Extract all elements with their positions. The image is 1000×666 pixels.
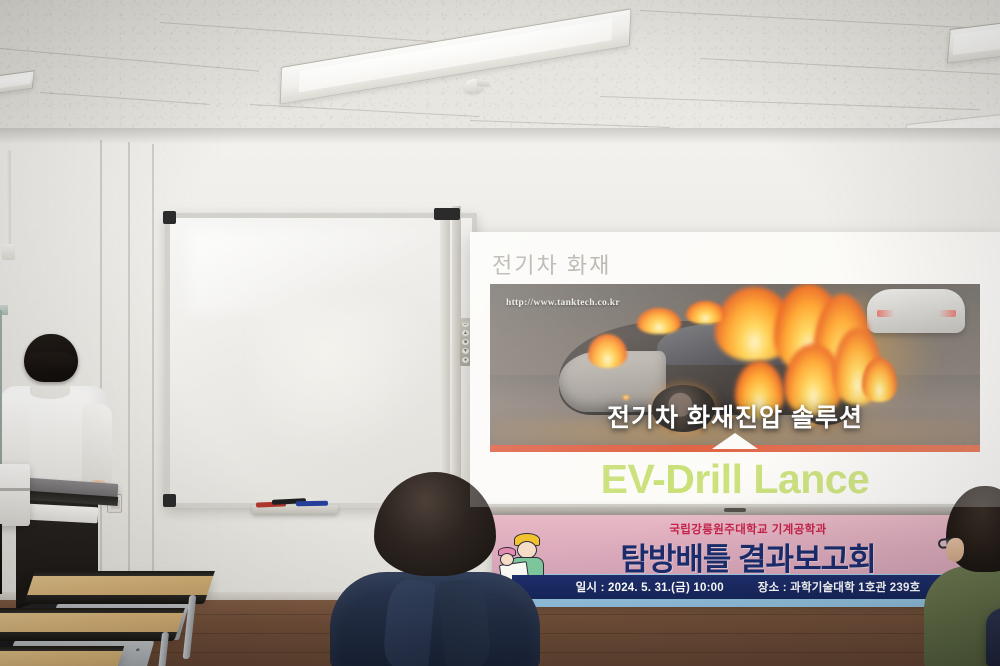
attendee-ear [946,538,964,562]
wall-conduit-box [2,244,15,260]
wall-seam [128,142,130,592]
blue-marker[interactable] [296,501,328,507]
desk[interactable] [0,650,123,666]
slide-title: 전기차 화재 [492,248,611,280]
presenter-collar [30,386,70,399]
up-button-icon[interactable]: ▲ [462,330,469,336]
banner-date: 일시 : 2024. 5. 31.(금) 10:00 [576,579,724,595]
event-banner: 국립강릉원주대학교 기계공학과 탐방배틀 결과보고회 일시 : 2024. 5.… [492,515,1000,607]
banner-title: 탐방배틀 결과보고회 [492,534,1000,579]
source-button-icon[interactable]: ● [462,357,469,363]
whiteboard-corner-bracket [163,494,176,507]
wall-ceiling-shadow [0,128,1000,144]
desk[interactable] [0,612,184,634]
whiteboard-glare-2 [255,304,436,461]
flame [588,334,627,368]
classroom-photo: ⏻ ▲ ■ ▼ ● 전기차 화재 [0,0,1000,666]
whiteboard-right-frame [440,208,450,508]
whiteboard[interactable] [165,213,477,508]
slide-headline: EV-Drill Lance [470,456,1000,503]
lectern-equipment-seam [0,488,30,491]
whiteboard-glare [188,229,448,315]
screen-pull-handle[interactable] [724,508,746,512]
presentation-slide: 전기차 화재 [470,232,1000,507]
whiteboard-marker-tray [252,505,338,514]
stop-button-icon[interactable]: ■ [462,339,469,345]
photo-caption: 전기차 화재진압 솔루션 [490,398,980,434]
wall-seam [152,144,154,592]
down-button-icon[interactable]: ▼ [462,348,469,354]
photo-watermark-url: http://www.tanktech.co.kr [506,298,620,308]
wall-conduit [6,150,11,256]
power-button-icon[interactable]: ⏻ [462,321,469,327]
projection-screen[interactable]: 전기차 화재 [470,232,1000,507]
flame [637,308,681,335]
attendee-hair [374,472,496,576]
whiteboard-corner-bracket [163,211,176,224]
burning-ev-photo: http://www.tanktech.co.kr 전기차 화재진압 솔루션 [490,284,980,452]
presenter-fringe [26,352,76,369]
background-car [867,289,965,333]
attendee-navy-blazer [330,472,540,666]
flame [862,358,896,402]
desk[interactable] [26,575,213,597]
lectern-equipment-box[interactable] [0,464,30,526]
whiteboard-corner-bracket-right [434,208,460,220]
banner-place: 장소 : 과학기술대학 1호관 239호 [758,579,921,595]
lectern-shadow-body [0,524,2,594]
banner-info-bar: 일시 : 2024. 5. 31.(금) 10:00 장소 : 과학기술대학 1… [512,575,984,599]
chair[interactable] [986,608,1000,666]
flame [686,301,725,325]
